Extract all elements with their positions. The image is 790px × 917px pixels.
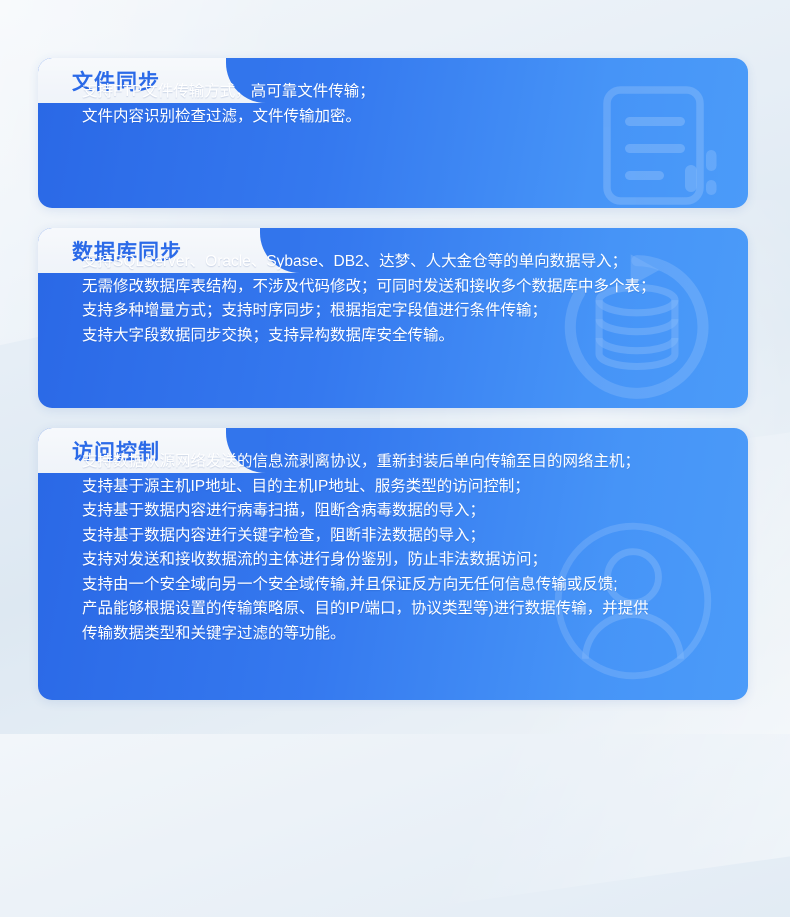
feature-line: 支持SQLServer、Oracle、Sybase、DB2、达梦、人大金仓等的单…	[82, 250, 724, 275]
card-body-db-sync: 支持SQLServer、Oracle、Sybase、DB2、达梦、人大金仓等的单…	[38, 228, 748, 368]
feature-line: 支持大字段数据同步交换；支持异构数据库安全传输。	[82, 324, 724, 349]
feature-line: 支持多种增量方式；支持时序同步；根据指定字段值进行条件传输；	[82, 299, 724, 324]
feature-card-file-sync: 文件同步 支持FTP文件传输方式，高可靠文件传输； 文件内容识别检查过滤，文件传…	[38, 58, 748, 208]
card-body-file-sync: 支持FTP文件传输方式，高可靠文件传输； 文件内容识别检查过滤，文件传输加密。	[38, 58, 748, 149]
feature-line: 无需修改数据库表结构，不涉及代码修改；可同时发送和接收多个数据库中多个表；	[82, 275, 724, 300]
feature-line: 支持数据从源网络发送的信息流剥离协议，重新封装后单向传输至目的网络主机；	[82, 450, 724, 475]
feature-card-db-sync: 数据库同步 支持SQLServer、Oracle、Sybase、DB2、达梦、人…	[38, 228, 748, 408]
feature-line: 支持基于数据内容进行病毒扫描，阻断含病毒数据的导入；	[82, 499, 724, 524]
feature-line: 传输数据类型和关键字过滤的等功能。	[82, 622, 724, 647]
feature-line: 支持FTP文件传输方式，高可靠文件传输；	[82, 80, 724, 105]
feature-line: 支持由一个安全域向另一个安全域传输,并且保证反方向无任何信息传输或反馈;	[82, 573, 724, 598]
feature-card-access-control: 访问控制 支持数据从源网络发送的信息流剥离协议，重新封装后单向传输至目的网络主机…	[38, 428, 748, 700]
card-body-access-control: 支持数据从源网络发送的信息流剥离协议，重新封装后单向传输至目的网络主机； 支持基…	[38, 428, 748, 666]
feature-line: 产品能够根据设置的传输策略原、目的IP/端口，协议类型等)进行数据传输，并提供	[82, 597, 724, 622]
feature-line: 支持基于源主机IP地址、目的主机IP地址、服务类型的访问控制；	[82, 475, 724, 500]
feature-cards-page: 文件同步 支持FTP文件传输方式，高可靠文件传输； 文件内容识别检查过滤，文件传…	[0, 0, 790, 734]
feature-line: 支持对发送和接收数据流的主体进行身份鉴别，防止非法数据访问；	[82, 548, 724, 573]
feature-line: 文件内容识别检查过滤，文件传输加密。	[82, 105, 724, 130]
feature-line: 支持基于数据内容进行关键字检查，阻断非法数据的导入；	[82, 524, 724, 549]
